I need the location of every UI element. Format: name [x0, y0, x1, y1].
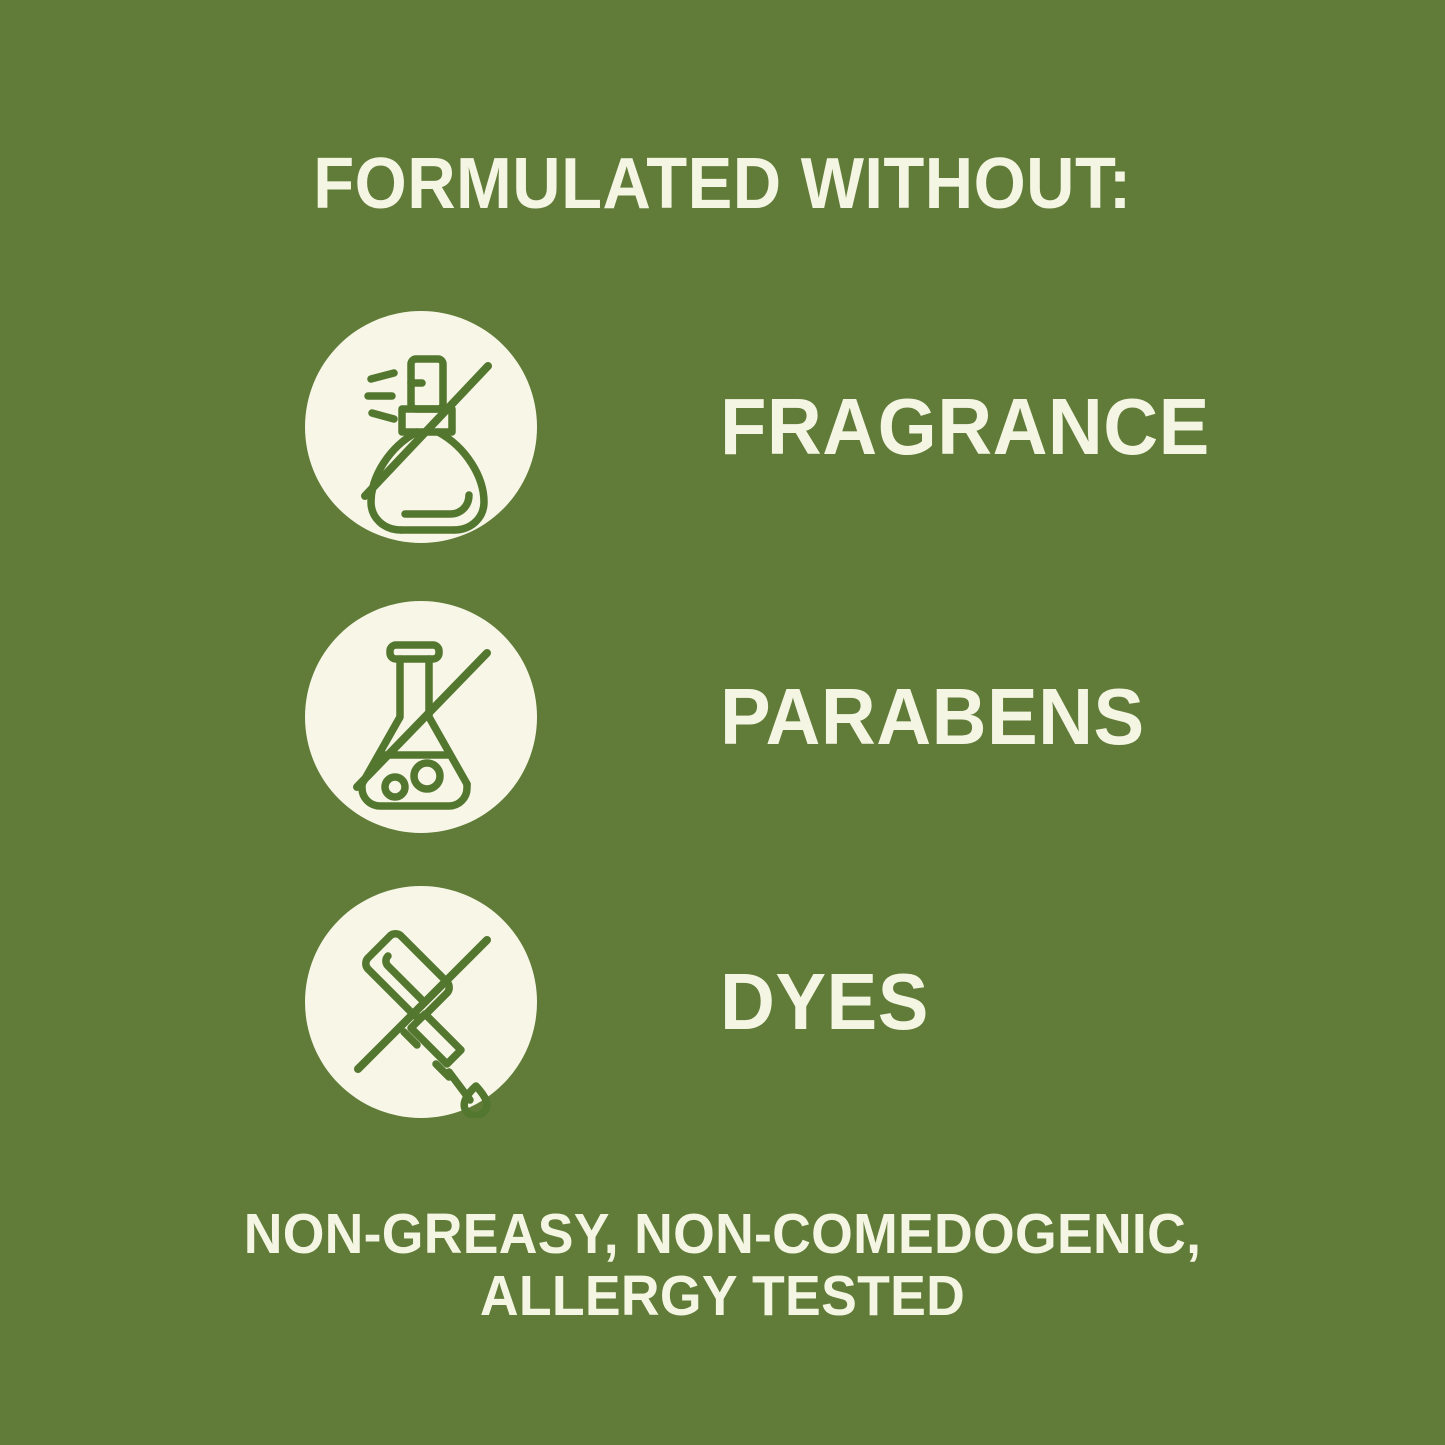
no-chemical-flask-badge — [305, 601, 537, 833]
no-chemical-flask-icon — [305, 601, 537, 833]
page-title: FORMULATED WITHOUT: — [51, 148, 1395, 220]
no-dropper-badge — [305, 886, 537, 1118]
list-item: FRAGRANCE — [0, 311, 1445, 543]
list-item: PARABENS — [0, 601, 1445, 833]
footer-claims: NON-GREASY, NON-COMEDOGENIC, ALLERGY TES… — [0, 1203, 1445, 1327]
no-dropper-icon — [305, 886, 537, 1118]
list-item-label-dyes: DYES — [720, 886, 940, 1118]
no-fragrance-bottle-badge — [305, 311, 537, 543]
list-item-label-parabens: PARABENS — [720, 601, 1167, 833]
formulated-without-infographic: FORMULATED WITHOUT: — [0, 0, 1445, 1445]
footer-line-1: NON-GREASY, NON-COMEDOGENIC, — [43, 1203, 1401, 1265]
no-fragrance-bottle-icon — [305, 311, 537, 543]
list-item-label-fragrance: FRAGRANCE — [720, 311, 1236, 543]
footer-line-2: ALLERGY TESTED — [43, 1265, 1401, 1327]
list-item: DYES — [0, 886, 1445, 1118]
